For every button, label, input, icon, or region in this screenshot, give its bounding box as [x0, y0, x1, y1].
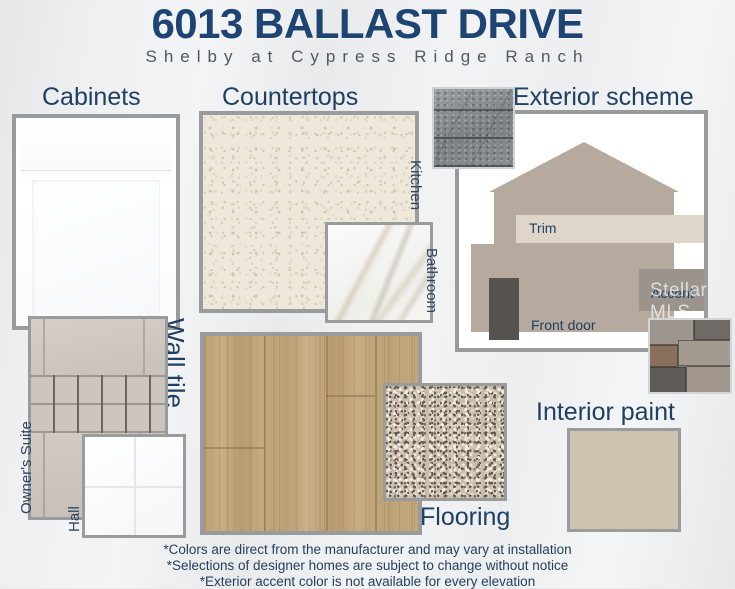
swatch-countertop-bathroom	[325, 222, 433, 323]
label-accent: Accent	[651, 285, 694, 301]
heading-flooring: Flooring	[420, 503, 510, 532]
label-hall: Hall	[66, 506, 83, 532]
heading-countertops: Countertops	[222, 83, 358, 112]
swatch-interior-paint	[567, 428, 681, 532]
label-owners-suite: Owner's Suite	[18, 421, 35, 514]
design-selection-board: 6013 BALLAST DRIVE Shelby at Cypress Rid…	[0, 0, 735, 588]
stone-texture	[650, 320, 730, 392]
disclaimer-line-3: *Exterior accent color is not available …	[0, 574, 735, 589]
disclaimer-line-2: *Selections of designer homes are subjec…	[0, 558, 735, 573]
cabinet-drawer-front	[20, 122, 172, 171]
swatch-cabinet-door	[12, 114, 180, 330]
carpet-texture	[386, 386, 504, 498]
page-title: 6013 BALLAST DRIVE	[0, 2, 735, 46]
hall-tile-texture	[85, 437, 183, 535]
disclaimer-line-1: *Colors are direct from the manufacturer…	[0, 542, 735, 557]
label-bathroom: Bathroom	[423, 248, 440, 313]
swatch-roof-shingle	[432, 87, 515, 169]
page-subtitle: Shelby at Cypress Ridge Ranch	[0, 47, 735, 67]
heading-exterior-scheme: Exterior scheme	[513, 83, 694, 112]
label-front-door: Front door	[531, 317, 596, 333]
swatch-front-door	[489, 278, 519, 340]
swatch-stone-veneer	[648, 318, 732, 394]
heading-interior-paint: Interior paint	[536, 398, 675, 427]
house-roof	[489, 142, 679, 192]
shingle-texture	[434, 89, 513, 167]
heading-cabinets: Cabinets	[42, 83, 141, 112]
interior-paint-color	[570, 431, 678, 529]
label-trim: Trim	[529, 220, 556, 236]
marble-texture	[328, 225, 430, 320]
cabinet-door-face	[16, 118, 176, 326]
cabinet-recessed-panel	[32, 180, 160, 318]
swatch-wall-tile-hall	[82, 434, 186, 538]
label-kitchen: Kitchen	[407, 160, 424, 210]
swatch-flooring-carpet	[383, 383, 507, 501]
